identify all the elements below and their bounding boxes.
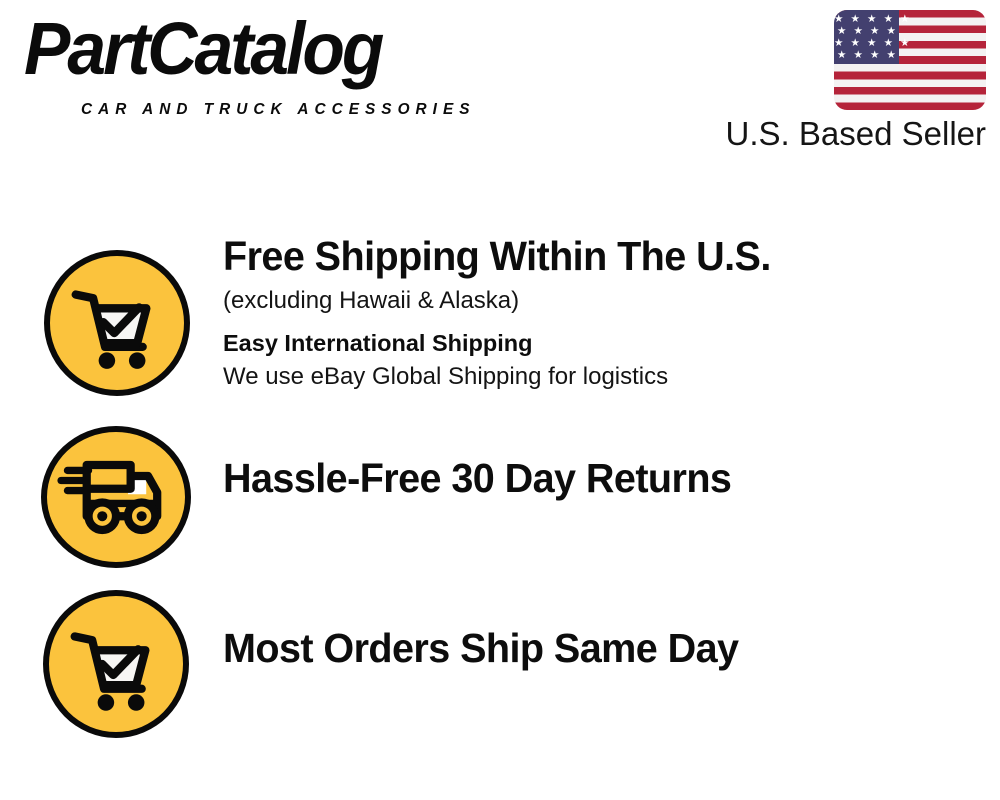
feature-subline-secondary: We use eBay Global Shipping for logistic… bbox=[223, 360, 963, 393]
feature-row: Hassle-Free 30 Day Returns bbox=[0, 426, 1000, 568]
feature-subline: (excluding Hawaii & Alaska) bbox=[223, 284, 963, 317]
flag-star-row: ★ ★ ★ ★ bbox=[834, 26, 899, 36]
page-header: PartCatalog CAR AND TRUCK ACCESSORIES ★ … bbox=[0, 0, 1000, 175]
feature-row: Free Shipping Within The U.S. (excluding… bbox=[0, 228, 1000, 408]
brand-logo[interactable]: PartCatalog CAR AND TRUCK ACCESSORIES bbox=[24, 18, 494, 114]
feature-text: Free Shipping Within The U.S. (excluding… bbox=[223, 232, 963, 393]
feature-headline: Hassle-Free 30 Day Returns bbox=[223, 454, 937, 502]
shopping-cart-check-icon bbox=[44, 250, 190, 396]
feature-row: Most Orders Ship Same Day bbox=[0, 590, 1000, 740]
us-based-seller-label: U.S. Based Seller bbox=[726, 114, 986, 154]
flag-star-row: ★ ★ ★ ★ ★ bbox=[834, 14, 899, 24]
flag-star-row: ★ ★ ★ ★ ★ bbox=[834, 38, 899, 48]
flag-star-row: ★ ★ ★ ★ bbox=[834, 50, 899, 60]
delivery-truck-icon bbox=[41, 426, 191, 568]
feature-text: Hassle-Free 30 Day Returns bbox=[223, 454, 963, 502]
feature-headline: Free Shipping Within The U.S. bbox=[223, 232, 937, 280]
feature-headline: Most Orders Ship Same Day bbox=[223, 624, 937, 672]
feature-subheading: Easy International Shipping bbox=[223, 327, 963, 359]
flag-canton: ★ ★ ★ ★ ★ ★ ★ ★ ★ ★ ★ ★ ★ ★ ★ ★ ★ ★ bbox=[834, 10, 899, 64]
us-flag-icon: ★ ★ ★ ★ ★ ★ ★ ★ ★ ★ ★ ★ ★ ★ ★ ★ ★ ★ bbox=[834, 10, 986, 110]
shopping-cart-check-icon bbox=[43, 590, 189, 738]
feature-text: Most Orders Ship Same Day bbox=[223, 624, 963, 672]
us-based-seller-badge: ★ ★ ★ ★ ★ ★ ★ ★ ★ ★ ★ ★ ★ ★ ★ ★ ★ ★ U.S.… bbox=[724, 10, 986, 158]
brand-tagline: CAR AND TRUCK ACCESSORIES bbox=[81, 102, 476, 118]
brand-wordmark: PartCatalog bbox=[24, 12, 381, 86]
